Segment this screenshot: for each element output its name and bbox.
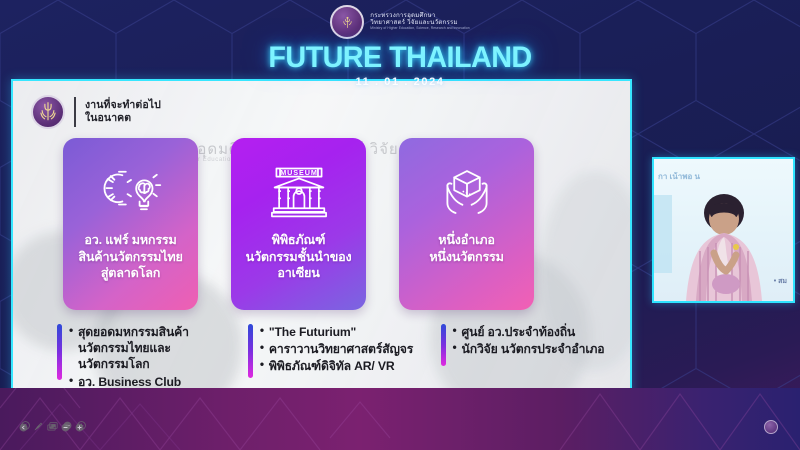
card-one-district-one-innovation[interactable]: หนึ่งอำเภอ หนึ่งนวัตกรรม (399, 138, 534, 310)
bullet-text-line-1: "The Futurium" (269, 325, 356, 339)
ministry-branding: กระทรวงการอุดมศึกษา วิทยาศาสตร์ วิจัยและ… (0, 0, 800, 39)
ministry-text-block: กระทรวงการอุดมศึกษา วิทยาศาสตร์ วิจัยและ… (370, 13, 469, 30)
hands-holding-box-icon (436, 161, 498, 223)
bullet-text-line-1: อว. Business Club (78, 375, 181, 389)
initiative-cards: อว. แฟร์ มหกรรม สินค้านวัตกรรมไทย สู่ตลา… (63, 138, 606, 310)
pointer-toolbar[interactable] (19, 423, 84, 432)
ministry-seal-icon (330, 5, 364, 39)
bullet-list: สุดยอดมหกรรมสินค้า นวัตกรรมไทยและ นวัตกร… (69, 324, 189, 391)
slide-header: งานที่จะทำต่อไป ในอนาคต (31, 95, 161, 129)
accent-bar (248, 324, 253, 378)
card-label-line-1: หนึ่งอำเภอ (429, 232, 503, 249)
screen-icon[interactable] (47, 423, 56, 432)
trident-seal-icon (31, 95, 65, 129)
card-museum[interactable]: MUSEUM พิพิธภ (231, 138, 366, 310)
bullet-column-3: ศูนย์ อว.ประจำท้องถิ่น นักวิจัย นวัตกรปร… (441, 324, 612, 391)
bullet-text-line-1: คาราวานวิทยาศาสตร์สัญจร (269, 342, 413, 356)
card-label-line-2: หนึ่งนวัตกรรม (429, 249, 503, 266)
event-title: FUTURE THAILAND (16, 41, 784, 75)
gear-lightbulb-brain-icon (100, 161, 162, 223)
list-item: อว. Business Club (69, 374, 189, 390)
event-date: 11 . 01 . 2024 (0, 76, 800, 88)
card-label-line-2: สินค้านวัตกรรมไทย (78, 249, 182, 266)
minus-circle-icon[interactable] (61, 423, 70, 432)
card-label-line-1: อว. แฟร์ มหกรรม (78, 232, 182, 249)
card-label-line-1: พิพิธภัณฑ์ (246, 232, 352, 249)
list-item: นักวิจัย นวัตกรประจำอำเภอ (453, 341, 605, 357)
pen-icon[interactable] (33, 423, 42, 432)
bullet-column-1: สุดยอดมหกรรมสินค้า นวัตกรรมไทยและ นวัตกร… (57, 324, 234, 391)
slide-heading-line-2: ในอนาคต (85, 112, 161, 125)
bullet-list: "The Futurium" คาราวานวิทยาศาสตร์สัญจร พ… (260, 324, 413, 391)
pointer-back-icon[interactable] (19, 423, 28, 432)
slide-heading-line-1: งานที่จะทำต่อไป (85, 99, 161, 112)
slide-header-divider (74, 97, 76, 127)
list-item: ศูนย์ อว.ประจำท้องถิ่น (453, 324, 605, 340)
bullet-text-line-1: สุดยอดมหกรรมสินค้า (78, 325, 189, 339)
card-label-line-2: นวัตกรรมชั้นนำของ (246, 249, 352, 266)
card-label: พิพิธภัณฑ์ นวัตกรรมชั้นนำของ อาเซียน (242, 232, 356, 282)
accent-bar (441, 324, 446, 366)
bottom-decorative-band (0, 388, 800, 450)
bullet-columns: สุดยอดมหกรรมสินค้า นวัตกรรมไทยและ นวัตกร… (57, 324, 612, 391)
accent-bar (57, 324, 62, 380)
speaker-video-feed[interactable]: กา เน้าพอ น • สม (652, 157, 795, 303)
card-label: อว. แฟร์ มหกรรม สินค้านวัตกรรมไทย สู่ตลา… (74, 232, 186, 282)
list-item: พิพิธภัณฑ์ดิจิทัล AR/ VR (260, 358, 413, 374)
card-label-line-3: สู่ตลาดโลก (78, 265, 182, 282)
plus-circle-icon[interactable] (75, 423, 84, 432)
presentation-slide: ระทรวงการอุดมศึกษา วิทยาศาสตร์ วิจัยและ … (11, 79, 632, 437)
list-item: สุดยอดมหกรรมสินค้า นวัตกรรมไทยและ นวัตกร… (69, 324, 189, 373)
slide-heading: งานที่จะทำต่อไป ในอนาคต (85, 99, 161, 125)
bullet-text-line-1: พิพิธภัณฑ์ดิจิทัล AR/ VR (269, 359, 395, 373)
card-label-line-3: อาเซียน (246, 265, 352, 282)
chevron-pattern (0, 388, 800, 450)
card-label: หนึ่งอำเภอ หนึ่งนวัตกรรม (425, 232, 507, 265)
bullet-list: ศูนย์ อว.ประจำท้องถิ่น นักวิจัย นวัตกรปร… (453, 324, 605, 391)
corner-seal-icon (764, 420, 778, 434)
list-item: คาราวานวิทยาศาสตร์สัญจร (260, 341, 413, 357)
screenshot-root: กระทรวงการอุดมศึกษา วิทยาศาสตร์ วิจัยและ… (0, 0, 800, 450)
bullet-text-line-2: นวัตกรรมไทยและ (78, 340, 189, 356)
list-item: "The Futurium" (260, 324, 413, 340)
museum-building-icon: MUSEUM (269, 161, 329, 223)
bullet-column-2: "The Futurium" คาราวานวิทยาศาสตร์สัญจร พ… (248, 324, 427, 391)
bullet-text-line-1: นักวิจัย นวัตกรประจำอำเภอ (462, 342, 605, 356)
page-header: กระทรวงการอุดมศึกษา วิทยาศาสตร์ วิจัยและ… (0, 0, 800, 76)
svg-text:MUSEUM: MUSEUM (280, 168, 318, 177)
speaker-figure (664, 181, 784, 301)
ministry-line-3: Ministry of Higher Education, Science, R… (370, 27, 469, 30)
bullet-text-line-3: นวัตกรรมโลก (78, 356, 189, 372)
card-av-fair[interactable]: อว. แฟร์ มหกรรม สินค้านวัตกรรมไทย สู่ตลา… (63, 138, 198, 310)
bullet-text-line-1: ศูนย์ อว.ประจำท้องถิ่น (462, 325, 576, 339)
